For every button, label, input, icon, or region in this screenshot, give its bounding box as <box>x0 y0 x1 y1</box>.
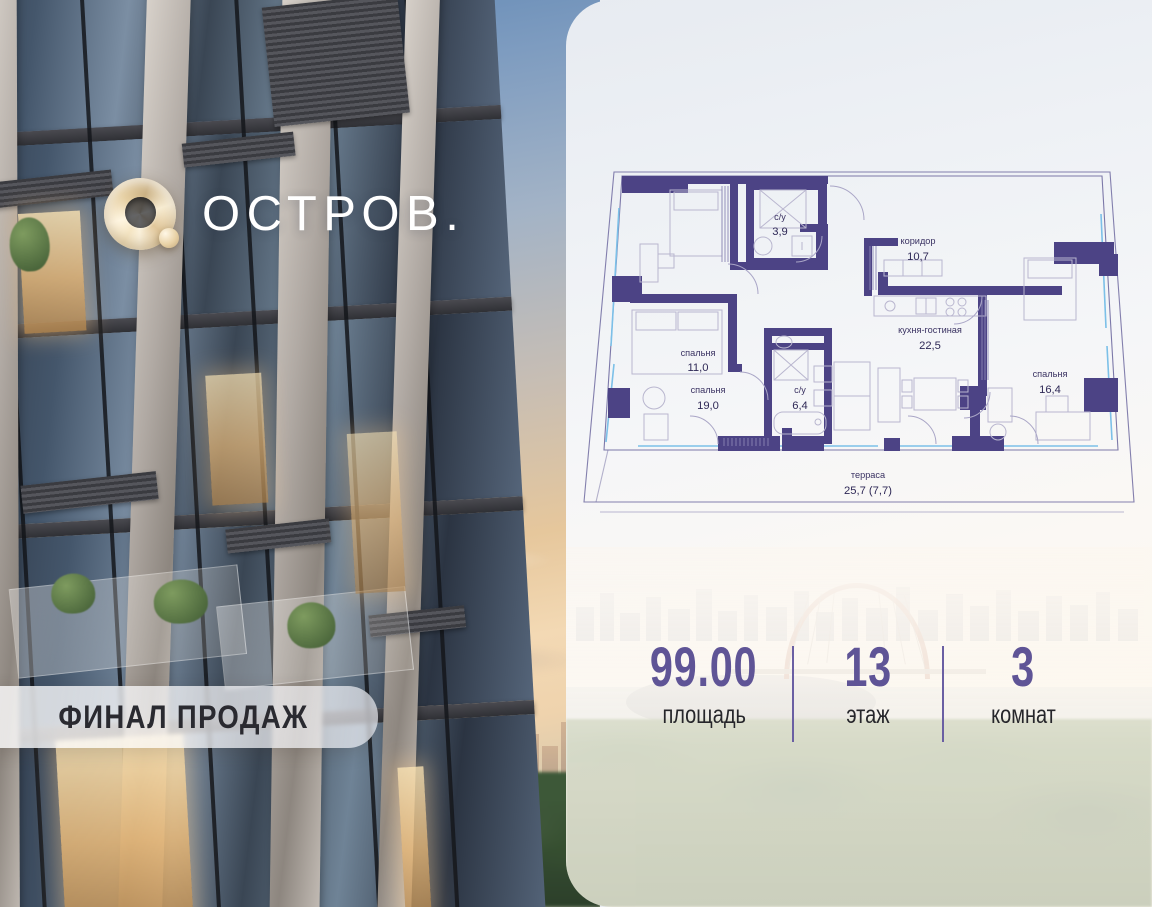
svg-text:с/у: с/у <box>794 385 806 395</box>
stat-floor-value: 13 <box>844 640 892 695</box>
svg-text:коридор: коридор <box>900 236 935 246</box>
plan-room-labels: спальня 11,0 с/у 3,9 коридор 10,7 кухня-… <box>681 212 1068 497</box>
final-sale-badge-label: ФИНАЛ ПРОДАЖ <box>58 699 308 736</box>
torus-logo-icon <box>104 178 176 250</box>
svg-text:25,7 (7,7): 25,7 (7,7) <box>844 485 892 497</box>
svg-text:спальня: спальня <box>1033 369 1068 379</box>
svg-text:19,0: 19,0 <box>697 400 719 412</box>
svg-text:спальня: спальня <box>691 385 726 395</box>
brand-logo: ОСТРОВ. <box>104 178 465 250</box>
svg-text:6,4: 6,4 <box>792 400 808 412</box>
offer-card-canvas: ОСТРОВ. ФИНАЛ ПРОДАЖ <box>0 0 1152 907</box>
stat-rooms-value: 3 <box>1011 640 1035 695</box>
svg-text:16,4: 16,4 <box>1039 384 1061 396</box>
stat-area-label: площадь <box>662 701 746 730</box>
stat-floor: 13 этаж <box>794 640 942 730</box>
svg-text:терраса: терраса <box>851 470 886 480</box>
stat-floor-label: этаж <box>846 701 889 730</box>
svg-text:с/у: с/у <box>774 212 786 222</box>
svg-text:спальня: спальня <box>681 348 716 358</box>
building-facade <box>0 0 547 907</box>
brand-name: ОСТРОВ. <box>202 190 465 239</box>
svg-text:3,9: 3,9 <box>772 226 788 238</box>
svg-text:10,7: 10,7 <box>907 251 929 263</box>
apartment-stats: 99.00 площадь 13 этаж 3 комнат <box>566 640 1152 750</box>
apartment-info-card: .w { fill:#4c4385; } .th { fill:none; st… <box>566 0 1152 907</box>
final-sale-badge[interactable]: ФИНАЛ ПРОДАЖ <box>0 686 378 748</box>
svg-text:кухня-гостиная: кухня-гостиная <box>898 325 962 335</box>
svg-text:11,0: 11,0 <box>688 362 709 374</box>
svg-text:22,5: 22,5 <box>919 340 941 352</box>
stat-rooms-label: комнат <box>991 701 1056 730</box>
building-render-photo: ОСТРОВ. ФИНАЛ ПРОДАЖ <box>0 0 600 907</box>
stat-rooms: 3 комнат <box>944 640 1102 730</box>
floor-plan: .w { fill:#4c4385; } .th { fill:none; st… <box>578 150 1144 540</box>
stat-area-value: 99.00 <box>650 640 757 695</box>
stat-area: 99.00 площадь <box>616 640 792 730</box>
